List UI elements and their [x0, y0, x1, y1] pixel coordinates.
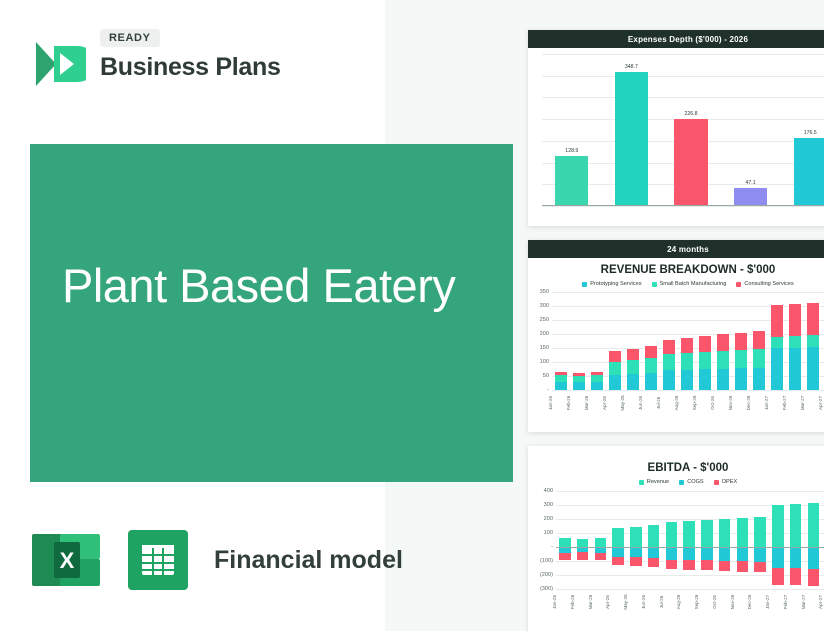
y-tick-label: -	[547, 387, 549, 393]
revenue-card-header: 24 months	[528, 240, 824, 258]
ebitda-bar-segment	[772, 547, 783, 568]
y-tick-label: (100)	[540, 558, 553, 564]
y-tick-label: 300	[540, 303, 549, 309]
legend-swatch	[582, 282, 587, 287]
format-row: X Financial model	[30, 524, 403, 596]
chart-card-revenue: 24 months REVENUE BREAKDOWN - $'000 Prot…	[528, 240, 824, 432]
gridline	[542, 97, 824, 98]
ebitda-bar-segment	[754, 562, 765, 573]
stacked-bar-segment	[573, 382, 585, 390]
expenses-chart-title: Expenses Depth ($'000) - 2026	[528, 30, 824, 48]
stacked-bar-segment	[807, 347, 819, 390]
stacked-bar-segment	[699, 336, 711, 352]
legend-item: Prototyping Services	[582, 281, 641, 287]
gridline	[552, 390, 824, 391]
ebitda-bar-segment	[719, 547, 730, 561]
stacked-bar-segment	[789, 304, 801, 336]
gridline	[542, 54, 824, 55]
microsoft-excel-icon: X	[30, 524, 102, 596]
y-tick-label: 350	[540, 289, 549, 295]
legend-label: COGS	[687, 479, 703, 485]
brand-logo: READY Business Plans	[30, 28, 360, 100]
ebitda-bar-segment	[754, 547, 765, 562]
cover-page: READY Business Plans Plant Based Eatery …	[0, 0, 824, 631]
ebitda-bar-segment	[701, 520, 712, 547]
ebitda-bar-segment	[648, 525, 659, 547]
stacked-bar-segment	[591, 375, 603, 382]
ebitda-legend: RevenueCOGSOPEX	[528, 479, 824, 485]
ebitda-bar-segment	[666, 547, 677, 560]
bar	[674, 119, 707, 206]
ebitda-bar-segment	[630, 557, 641, 566]
x-tick-label: Apr-27	[818, 593, 824, 611]
y-tick-label: 100	[544, 530, 553, 536]
ebitda-bar-segment	[683, 521, 694, 547]
stacked-bar-segment	[717, 334, 729, 351]
stacked-bar-segment	[753, 349, 765, 368]
ebitda-bar-segment	[737, 518, 748, 547]
legend-item: Revenue	[639, 479, 669, 485]
ebitda-bar-segment	[559, 538, 570, 547]
revenue-chart-title: REVENUE BREAKDOWN - $'000	[528, 264, 824, 276]
ready-badge: READY	[100, 29, 160, 47]
y-tick-label: (300)	[540, 586, 553, 592]
ebitda-bar-segment	[772, 568, 783, 585]
stacked-bar-segment	[609, 375, 621, 390]
revenue-x-axis-labels: Jan-26Feb-26Mar-26Apr-26May-26Jun-26Jul-…	[552, 390, 824, 416]
ebitda-bar-segment	[719, 519, 730, 547]
stacked-bar-segment	[609, 351, 621, 362]
stacked-bar-segment	[573, 376, 585, 382]
ebitda-bar-segment	[719, 561, 730, 571]
stacked-bar-segment	[807, 335, 819, 347]
play-triangle-logo-icon	[30, 36, 86, 92]
x-tick-label: Apr-27	[818, 394, 824, 412]
y-tick-label: 50	[543, 373, 549, 379]
stacked-bar-segment	[735, 368, 747, 390]
gridline	[556, 505, 824, 506]
svg-text:X: X	[60, 548, 75, 573]
legend-item: COGS	[679, 479, 703, 485]
revenue-plot-area: -50100150200250300350	[552, 292, 824, 390]
ebitda-plot-area: 400300200100-(100)(200)(300)	[556, 491, 824, 589]
bar-value-label: 47.1	[746, 180, 756, 186]
stacked-bar-segment	[645, 358, 657, 373]
stacked-bar-segment	[663, 340, 675, 355]
gridline	[552, 306, 824, 307]
legend-item: Consulting Services	[736, 281, 793, 287]
ebitda-bar-segment	[612, 557, 623, 565]
bar	[794, 138, 824, 206]
stacked-bar-segment	[807, 303, 819, 335]
stacked-bar-segment	[735, 350, 747, 368]
expenses-plot-area: 128.9348.7226.847.1176.5	[542, 54, 824, 206]
google-sheets-icon	[124, 526, 192, 594]
ebitda-bar-segment	[559, 553, 570, 561]
stacked-bar-segment	[753, 331, 765, 349]
ebitda-x-axis-labels: Jan-26Feb-26Mar-26Apr-26May-26Jun-26Jul-…	[556, 589, 824, 615]
gridline	[552, 320, 824, 321]
ebitda-bar-segment	[630, 527, 641, 547]
gridline	[556, 575, 824, 576]
legend-swatch	[639, 480, 644, 485]
y-tick-label: 200	[540, 331, 549, 337]
gridline	[552, 292, 824, 293]
stacked-bar-segment	[573, 373, 585, 376]
stacked-bar-segment	[627, 374, 639, 390]
chart-card-ebitda: EBITDA - $'000 RevenueCOGSOPEX 400300200…	[528, 446, 824, 632]
stacked-bar-segment	[591, 372, 603, 375]
ebitda-bar-segment	[666, 560, 677, 569]
ebitda-bar-segment	[790, 504, 801, 547]
legend-swatch	[714, 480, 719, 485]
ebitda-bar-segment	[683, 547, 694, 560]
stacked-bar-segment	[717, 351, 729, 369]
y-tick-label: 150	[540, 345, 549, 351]
ebitda-bar-segment	[683, 560, 694, 570]
stacked-bar-segment	[681, 370, 693, 390]
bar	[734, 188, 767, 206]
stacked-bar-segment	[681, 353, 693, 370]
stacked-bar-segment	[681, 338, 693, 353]
stacked-bar-segment	[735, 333, 747, 350]
stacked-bar-segment	[699, 369, 711, 390]
stacked-bar-segment	[645, 373, 657, 390]
page-title: Plant Based Eatery	[62, 255, 492, 317]
gridline	[542, 76, 824, 77]
zero-line	[556, 547, 824, 548]
brand-name: Business Plans	[100, 53, 281, 82]
ebitda-bar-segment	[577, 552, 588, 559]
stacked-bar-segment	[555, 382, 567, 390]
bar-value-label: 226.8	[685, 111, 698, 117]
ebitda-bar-segment	[772, 505, 783, 547]
ebitda-bar-segment	[808, 503, 819, 547]
ebitda-bar-segment	[737, 561, 748, 571]
ebitda-bar-segment	[790, 547, 801, 568]
y-tick-label: 200	[544, 516, 553, 522]
gridline	[556, 589, 824, 590]
ebitda-bar-segment	[577, 539, 588, 547]
ebitda-bar-segment	[595, 538, 606, 547]
bar	[555, 156, 588, 206]
ebitda-bar-segment	[595, 553, 606, 561]
stacked-bar-segment	[555, 372, 567, 375]
stacked-bar-segment	[627, 360, 639, 373]
stacked-bar-segment	[789, 348, 801, 390]
y-tick-label: 400	[544, 488, 553, 494]
bar	[615, 72, 648, 206]
stacked-bar-segment	[645, 346, 657, 358]
stacked-bar-segment	[771, 305, 783, 336]
bar-value-label: 348.7	[625, 64, 638, 70]
revenue-legend: Prototyping ServicesSmall Batch Manufact…	[528, 281, 824, 287]
y-tick-label: 300	[544, 502, 553, 508]
ebitda-bar-segment	[612, 547, 623, 557]
legend-label: Revenue	[647, 479, 669, 485]
ebitda-bar-segment	[790, 568, 801, 585]
ebitda-bar-segment	[808, 547, 819, 569]
ebitda-chart-title: EBITDA - $'000	[528, 462, 824, 474]
ebitda-bar-segment	[630, 547, 641, 557]
gridline	[556, 491, 824, 492]
y-tick-label: (200)	[540, 572, 553, 578]
stacked-bar-segment	[771, 348, 783, 390]
ebitda-bar-segment	[754, 517, 765, 547]
legend-label: Consulting Services	[744, 281, 793, 287]
stacked-bar-segment	[663, 354, 675, 370]
chart-card-expenses: Expenses Depth ($'000) - 2026 128.9348.7…	[528, 30, 824, 226]
bar-value-label: 176.5	[804, 130, 817, 136]
y-tick-label: -	[551, 544, 553, 550]
gridline	[542, 206, 824, 207]
ebitda-bar-segment	[737, 547, 748, 561]
stacked-bar-segment	[663, 370, 675, 390]
stacked-bar-segment	[609, 362, 621, 375]
ebitda-bar-segment	[701, 560, 712, 570]
stacked-bar-segment	[699, 352, 711, 369]
y-tick-label: 250	[540, 317, 549, 323]
stacked-bar-segment	[771, 337, 783, 348]
ebitda-bar-segment	[612, 528, 623, 547]
brand-logo-text: READY Business Plans	[100, 28, 281, 82]
bar-value-label: 128.9	[565, 148, 578, 154]
legend-swatch	[652, 282, 657, 287]
ebitda-bar-segment	[808, 569, 819, 586]
y-tick-label: 100	[540, 359, 549, 365]
legend-item: Small Batch Manufacturing	[652, 281, 727, 287]
stacked-bar-segment	[591, 382, 603, 390]
legend-item: OPEX	[714, 479, 738, 485]
financial-model-label: Financial model	[214, 546, 403, 575]
stacked-bar-segment	[717, 369, 729, 390]
stacked-bar-segment	[555, 375, 567, 382]
gridline	[552, 334, 824, 335]
stacked-bar-segment	[627, 349, 639, 360]
axis-baseline	[542, 205, 824, 206]
stacked-bar-segment	[753, 368, 765, 390]
ebitda-bar-segment	[666, 522, 677, 547]
ebitda-bar-segment	[701, 547, 712, 560]
stacked-bar-segment	[789, 336, 801, 348]
legend-label: Small Batch Manufacturing	[660, 281, 727, 287]
legend-swatch	[679, 480, 684, 485]
legend-label: Prototyping Services	[590, 281, 641, 287]
legend-swatch	[736, 282, 741, 287]
ebitda-bar-segment	[648, 558, 659, 567]
ebitda-bar-segment	[648, 547, 659, 558]
legend-label: OPEX	[722, 479, 738, 485]
